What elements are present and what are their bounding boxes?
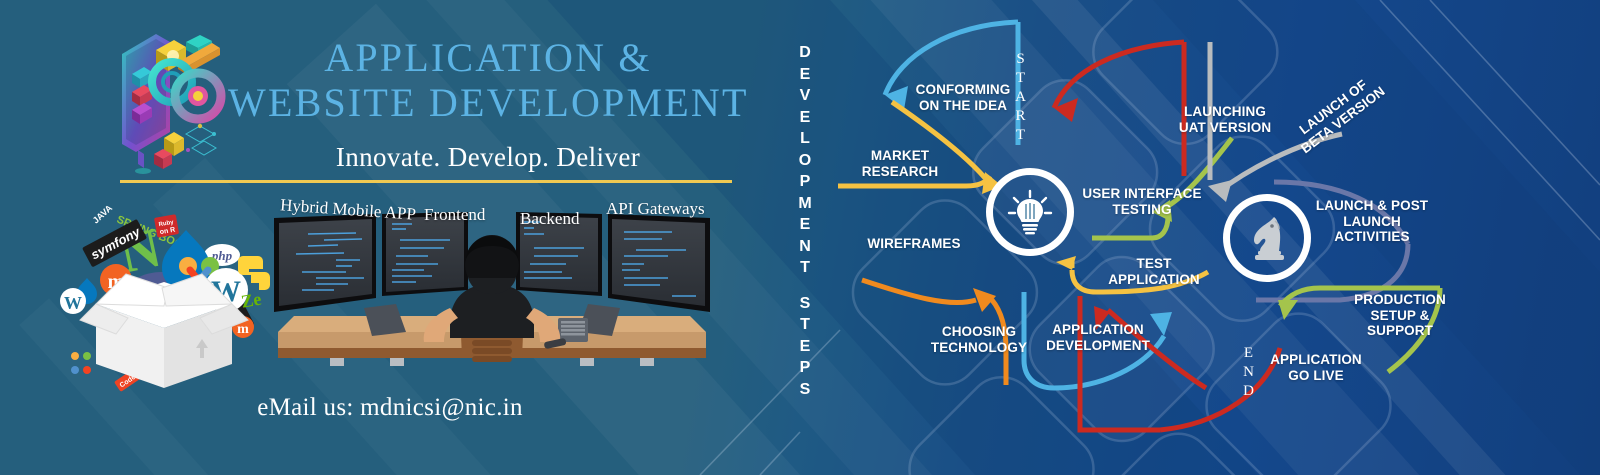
petal-label-test-application: TEST APPLICATION <box>1098 256 1210 287</box>
page-title-line-2: WEBSITE DEVELOPMENT <box>228 81 748 126</box>
petal-label-launch-and-post-launch-activities: LAUNCH & POST LAUNCH ACTIVITIES <box>1304 198 1440 245</box>
petal-label-user-interface-testing: USER INTERFACE TESTING <box>1068 186 1216 217</box>
petal-launching-uat-version[interactable] <box>1054 42 1184 176</box>
isometric-app-development-illustration <box>112 24 224 176</box>
start-char: T <box>1010 126 1032 145</box>
end-char: D <box>1238 382 1260 401</box>
technology-logos-box: JAVA SPRING BOOT Ruby on R N <box>56 196 274 390</box>
petal-label-choosing-technology: CHOOSING TECHNOLOGY <box>920 324 1038 355</box>
petal-label-application-development: APPLICATION DEVELOPMENT <box>1030 322 1166 353</box>
petal-label-application-go-live: APPLICATION GO LIVE <box>1258 352 1374 383</box>
petal-label-wireframes: WIREFRAMES <box>844 236 984 252</box>
petal-label-market-research: MARKET RESEARCH <box>838 148 962 179</box>
petal-label-launching-uat-version: LAUNCHING UAT VERSION <box>1168 104 1282 135</box>
svg-text:m: m <box>237 322 249 337</box>
developer-at-multi-monitor-desk <box>272 212 712 372</box>
end-char: E <box>1238 344 1260 363</box>
hub-strategy[interactable] <box>1223 194 1311 282</box>
end-char: N <box>1238 363 1260 382</box>
title-divider <box>120 180 732 183</box>
title-block: APPLICATION & WEBSITE DEVELOPMENT Innova… <box>228 36 748 173</box>
start-char: S <box>1010 50 1032 69</box>
lightbulb-icon <box>1006 188 1054 236</box>
petal-label-conforming-on-the-idea: CONFORMING ON THE IDEA <box>898 82 1028 113</box>
svg-text:W: W <box>64 293 82 313</box>
right-panel-process-diagram: D E V E L O P M E N T S T E P S <box>780 0 1600 475</box>
hub-idea[interactable] <box>986 168 1074 256</box>
screen-label-frontend: Frontend <box>424 205 485 225</box>
svg-text:Ze: Ze <box>240 289 263 312</box>
petal-label-production-setup-and-support: PRODUCTION SETUP & SUPPORT <box>1336 292 1464 339</box>
banner-root: APPLICATION & WEBSITE DEVELOPMENT Innova… <box>0 0 1600 475</box>
screen-label-api-gateways: API Gateways <box>606 199 705 219</box>
screen-label-backend: Backend <box>520 209 579 229</box>
email-contact: eMail us: mdnicsi@nic.in <box>0 394 780 422</box>
svg-text:JAVA: JAVA <box>91 203 115 226</box>
left-panel: APPLICATION & WEBSITE DEVELOPMENT Innova… <box>0 0 780 475</box>
chess-knight-icon <box>1243 213 1291 263</box>
end-marker: E N D <box>1238 344 1260 401</box>
page-subtitle: Innovate. Develop. Deliver <box>228 142 748 173</box>
page-title-line-1: APPLICATION & <box>228 36 748 81</box>
